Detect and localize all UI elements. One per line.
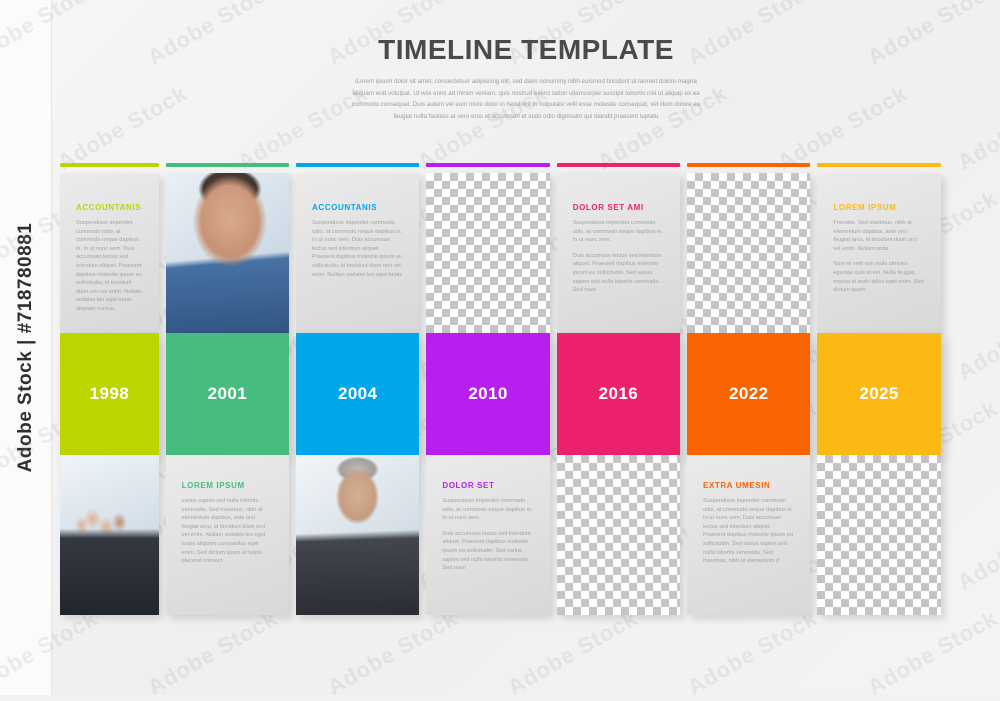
- accent-bar-6: [687, 163, 817, 167]
- accent-bar-7: [817, 163, 947, 167]
- bottom-text-card-6[interactable]: EXTRA UMESINSuspendisse imperdiet commod…: [687, 455, 810, 615]
- year-label: 2016: [599, 384, 638, 404]
- top-photo-2[interactable]: [166, 173, 289, 333]
- year-block-1998[interactable]: 1998: [60, 333, 159, 455]
- bottom-photo-1[interactable]: [60, 455, 159, 615]
- accent-bar-fill: [166, 163, 289, 167]
- year-label: 2001: [208, 384, 247, 404]
- adobe-stock-id-label: Adobe Stock | #718780881: [0, 0, 52, 695]
- year-block-2001[interactable]: 2001: [166, 333, 289, 455]
- card-text-body: ACCOUNTANISSuspendisse imperdiet commodo…: [296, 173, 419, 289]
- card-paragraph: Suspendisse imperdiet commodo odio, at c…: [573, 219, 664, 245]
- accent-bar-fill: [817, 163, 940, 167]
- timeline-top-row: ACCOUNTANISSuspendisse imperdiet commodo…: [60, 173, 948, 333]
- photo-overlay: [166, 173, 289, 333]
- timeline-cell-year-6: 2022: [687, 333, 817, 455]
- timeline-cell-bottom-4: DOLOR SETSuspendisse imperdiet commodo o…: [426, 455, 556, 615]
- timeline-cell-year-7: 2025: [817, 333, 947, 455]
- top-image-placeholder-6[interactable]: [687, 173, 810, 333]
- card-paragraph: varius sapien sed nulla lobortis venenat…: [182, 497, 273, 566]
- bottom-text-card-4[interactable]: DOLOR SETSuspendisse imperdiet commodo o…: [426, 455, 549, 615]
- card-text-body: LOREM IPSUMFnenatis. Sed maximus, nibh a…: [817, 173, 940, 305]
- page-subtitle: iLorem ipsum dolor sit amet, consectetue…: [346, 76, 706, 122]
- year-label: 2010: [468, 384, 507, 404]
- card-text-body: LOREM IPSUMvarius sapien sed nulla lobor…: [166, 455, 289, 576]
- slide-header: TIMELINE TEMPLATE iLorem ipsum dolor sit…: [52, 34, 1000, 122]
- timeline-cell-bottom-2: LOREM IPSUMvarius sapien sed nulla lobor…: [166, 455, 296, 615]
- timeline-cell-top-4: [426, 173, 556, 333]
- adobe-stock-sidebar: Adobe Stock | #718780881: [0, 0, 52, 695]
- bottom-photo-3[interactable]: [296, 455, 419, 615]
- timeline-cell-year-4: 2010: [426, 333, 556, 455]
- card-heading: ACCOUNTANIS: [76, 203, 143, 212]
- year-block-2025[interactable]: 2025: [817, 333, 940, 455]
- year-block-2010[interactable]: 2010: [426, 333, 549, 455]
- accent-bar-fill: [296, 163, 419, 167]
- accent-bar-row: [60, 163, 948, 173]
- card-paragraph: Suspendisse imperdiet commodo odio, at c…: [442, 497, 533, 523]
- timeline-cell-top-6: [687, 173, 817, 333]
- card-paragraph: Suspendisse imperdiet commodo odio, at c…: [312, 219, 403, 279]
- timeline-cell-bottom-1: [60, 455, 166, 615]
- year-block-2016[interactable]: 2016: [557, 333, 680, 455]
- card-text-body: DOLOR SET AMISuspendisse imperdiet commo…: [557, 173, 680, 305]
- timeline-cell-bottom-7: [817, 455, 947, 615]
- card-paragraph: Suspendisse imperdiet commodo odio, at c…: [703, 497, 794, 566]
- card-heading: LOREM IPSUM: [182, 481, 273, 490]
- bottom-text-card-2[interactable]: LOREM IPSUMvarius sapien sed nulla lobor…: [166, 455, 289, 615]
- timeline-slide: TIMELINE TEMPLATE iLorem ipsum dolor sit…: [52, 0, 1000, 695]
- card-heading: DOLOR SET AMI: [573, 203, 664, 212]
- year-block-2022[interactable]: 2022: [687, 333, 810, 455]
- card-heading: ACCOUNTANIS: [312, 203, 403, 212]
- timeline-cell-top-3: ACCOUNTANISSuspendisse imperdiet commodo…: [296, 173, 426, 333]
- card-paragraph: Fnenatis. Sed maximus, nibh at elementum…: [833, 219, 924, 253]
- card-heading: EXTRA UMESIN: [703, 481, 794, 490]
- card-paragraph: Nam et velit non nulla ultricies egestas…: [833, 260, 924, 294]
- timeline-cell-year-5: 2016: [557, 333, 687, 455]
- card-paragraph: Suspendisse imperdiet commodo odio, at c…: [76, 219, 143, 314]
- top-text-card-1[interactable]: ACCOUNTANISSuspendisse imperdiet commodo…: [60, 173, 159, 333]
- bottom-image-placeholder-5[interactable]: [557, 455, 680, 615]
- timeline-year-row: 1998200120042010201620222025: [60, 333, 948, 455]
- timeline-cell-top-1: ACCOUNTANISSuspendisse imperdiet commodo…: [60, 173, 166, 333]
- card-paragraph: Duis accumsan lectus sed interdum alique…: [442, 530, 533, 573]
- accent-bar-fill: [557, 163, 680, 167]
- timeline-cell-bottom-3: [296, 455, 426, 615]
- timeline-cell-bottom-6: EXTRA UMESINSuspendisse imperdiet commod…: [687, 455, 817, 615]
- year-label: 1998: [90, 384, 129, 404]
- top-text-card-3[interactable]: ACCOUNTANISSuspendisse imperdiet commodo…: [296, 173, 419, 333]
- card-text-body: DOLOR SETSuspendisse imperdiet commodo o…: [426, 455, 549, 583]
- accent-bar-fill: [687, 163, 810, 167]
- photo-overlay: [296, 455, 419, 615]
- timeline-cell-bottom-5: [557, 455, 687, 615]
- accent-bar-4: [426, 163, 556, 167]
- year-block-2004[interactable]: 2004: [296, 333, 419, 455]
- card-heading: LOREM IPSUM: [833, 203, 924, 212]
- card-paragraph: Duis accumsan lectus sed interdum alique…: [573, 252, 664, 295]
- top-text-card-5[interactable]: DOLOR SET AMISuspendisse imperdiet commo…: [557, 173, 680, 333]
- year-label: 2022: [729, 384, 768, 404]
- top-text-card-7[interactable]: LOREM IPSUMFnenatis. Sed maximus, nibh a…: [817, 173, 940, 333]
- page-title: TIMELINE TEMPLATE: [52, 34, 1000, 66]
- accent-bar-5: [557, 163, 687, 167]
- accent-bar-3: [296, 163, 426, 167]
- top-image-placeholder-4[interactable]: [426, 173, 549, 333]
- accent-bar-fill: [426, 163, 549, 167]
- timeline-grid: ACCOUNTANISSuspendisse imperdiet commodo…: [60, 163, 948, 615]
- accent-bar-1: [60, 163, 166, 167]
- timeline-cell-top-5: DOLOR SET AMISuspendisse imperdiet commo…: [557, 173, 687, 333]
- card-heading: DOLOR SET: [442, 481, 533, 490]
- photo-overlay: [60, 455, 159, 615]
- timeline-cell-top-7: LOREM IPSUMFnenatis. Sed maximus, nibh a…: [817, 173, 947, 333]
- timeline-cell-year-1: 1998: [60, 333, 166, 455]
- timeline-cell-top-2: [166, 173, 296, 333]
- accent-bar-2: [166, 163, 296, 167]
- timeline-cell-year-2: 2001: [166, 333, 296, 455]
- timeline-cell-year-3: 2004: [296, 333, 426, 455]
- bottom-image-placeholder-7[interactable]: [817, 455, 940, 615]
- year-label: 2025: [859, 384, 898, 404]
- card-text-body: EXTRA UMESINSuspendisse imperdiet commod…: [687, 455, 810, 576]
- year-label: 2004: [338, 384, 377, 404]
- timeline-bottom-row: LOREM IPSUMvarius sapien sed nulla lobor…: [60, 455, 948, 615]
- card-text-body: ACCOUNTANISSuspendisse imperdiet commodo…: [60, 173, 159, 324]
- accent-bar-fill: [60, 163, 159, 167]
